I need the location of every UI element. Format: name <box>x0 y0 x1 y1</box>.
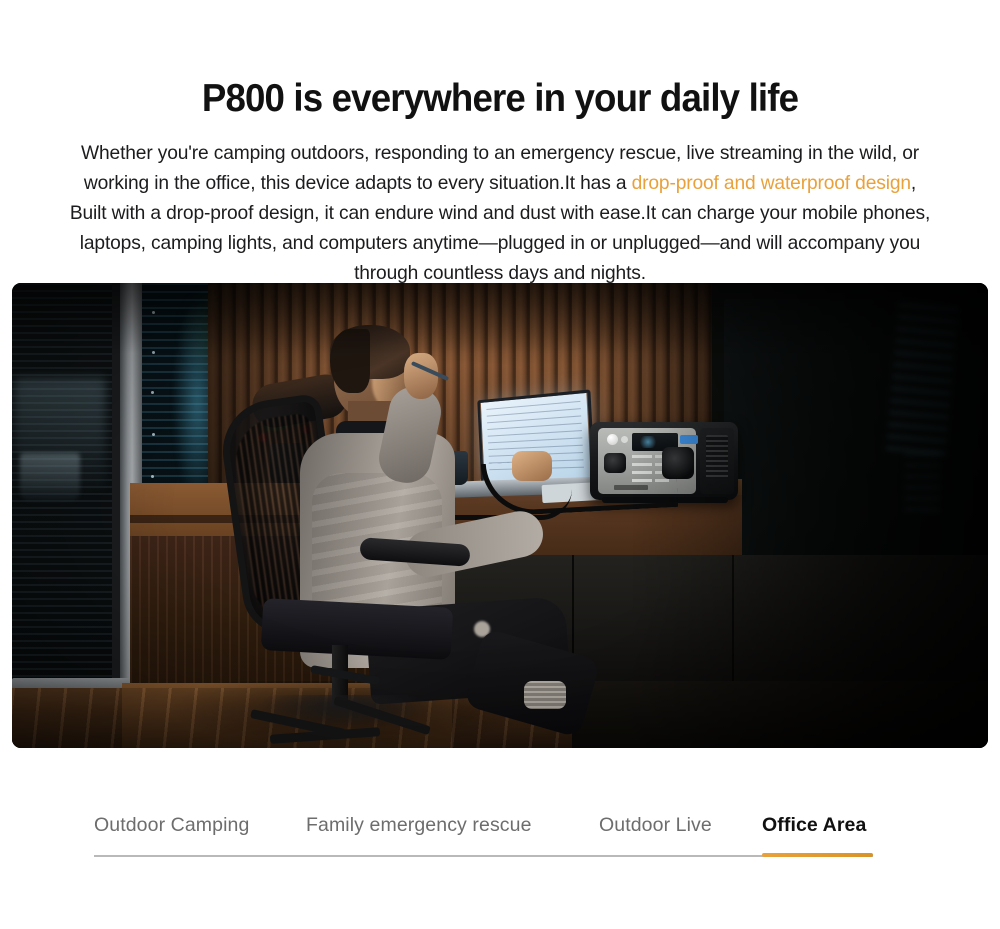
product-feature-section: P800 is everywhere in your daily life Wh… <box>0 0 1000 929</box>
image-vignette <box>12 283 988 748</box>
hero-image <box>12 283 988 748</box>
tab-active-indicator <box>762 853 873 857</box>
scene-tab-bar[interactable]: Outdoor Camping Family emergency rescue … <box>94 808 906 842</box>
tab-family-emergency-rescue[interactable]: Family emergency rescue <box>306 808 532 842</box>
intro-highlight: drop-proof and waterproof design <box>632 172 911 194</box>
tab-office-area[interactable]: Office Area <box>762 808 866 842</box>
tab-underline-track <box>94 855 873 857</box>
page-title: P800 is everywhere in your daily life <box>30 75 970 122</box>
tab-outdoor-camping[interactable]: Outdoor Camping <box>94 808 249 842</box>
tab-outdoor-live[interactable]: Outdoor Live <box>599 808 712 842</box>
intro-paragraph: Whether you're camping outdoors, respond… <box>67 138 934 288</box>
